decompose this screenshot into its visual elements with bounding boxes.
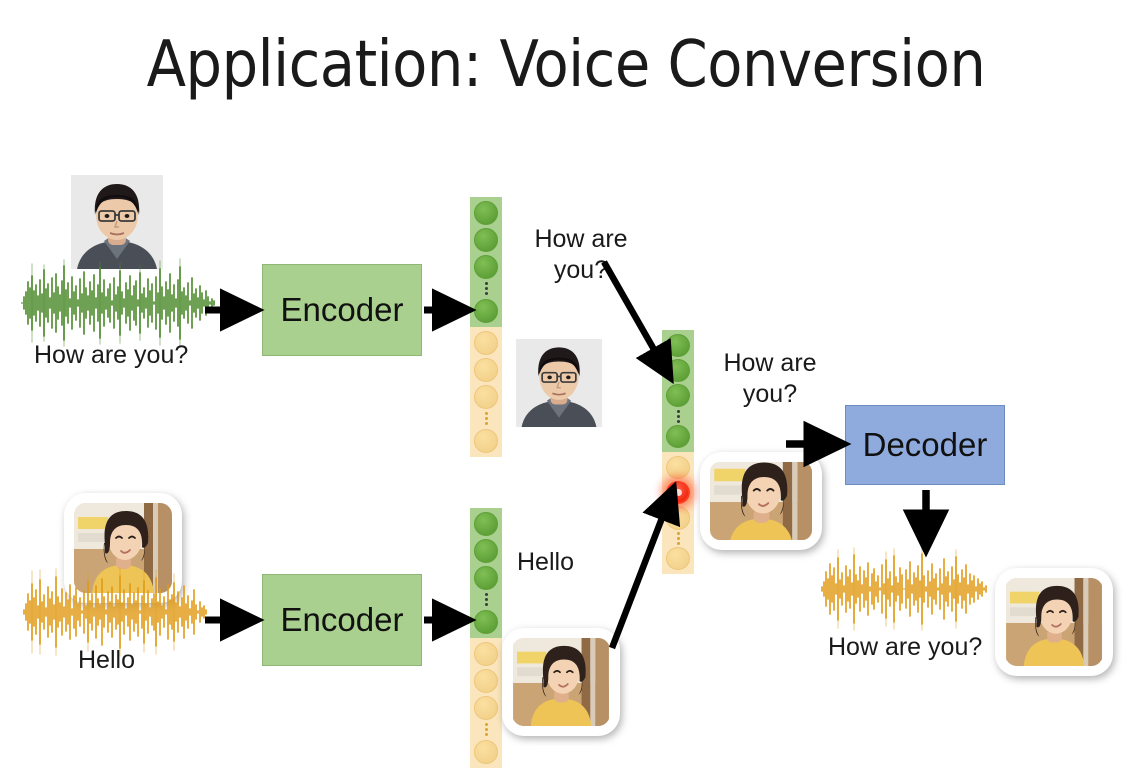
embedding-column-combined [662,330,694,574]
embedding-node [474,299,498,323]
orange-waveform-bottom [22,568,218,656]
embedding-node [474,385,498,409]
waveform-svg [20,258,220,348]
bottom-source-caption: Hello [78,645,135,676]
male-speaker-photo-embedding [508,332,610,434]
embedding-node [666,547,690,570]
embedding-node [666,384,690,407]
green-waveform-top [20,258,220,348]
embedding-node [474,642,498,666]
speaker-embedding-combined [662,452,694,574]
embedding-node [474,255,498,279]
output-caption: How are you? [828,632,982,663]
ellipsis-dots [677,531,680,546]
top-content-embedding-label: How are you? [506,224,656,285]
embedding-node [666,456,690,479]
embedding-node [474,740,498,764]
embedding-node [474,539,498,563]
decoder-label: Decoder [863,426,988,464]
speaker-embedding-top [470,327,502,457]
ellipsis-dots [677,408,680,423]
combined-content-embedding-label: How are you? [700,348,840,409]
embedding-node [474,566,498,590]
embedding-node [474,228,498,252]
ellipsis-dots [485,411,488,427]
embedding-node [666,506,690,529]
embedding-node [474,358,498,382]
embedding-node [474,331,498,355]
speaker-embedding-bottom [470,638,502,768]
female-speaker-photo-output [995,568,1113,676]
embedding-column-top [470,197,502,457]
embedding-node [474,669,498,693]
decoder-box[interactable]: Decoder [845,405,1005,485]
embedding-node [474,429,498,453]
embedding-node [474,201,498,225]
embedding-node [474,610,498,634]
encoder-top-box[interactable]: Encoder [262,264,422,356]
content-embedding-bottom [470,508,502,638]
embedding-node [474,512,498,536]
slide-canvas: Application: Voice Conversion [0,0,1132,783]
embedding-node [666,334,690,357]
page-title: Application: Voice Conversion [0,28,1132,102]
bottom-content-embedding-label: Hello [517,547,574,578]
encoder-bottom-box[interactable]: Encoder [262,574,422,666]
ellipsis-dots [485,722,488,738]
encoder-top-label: Encoder [281,291,404,329]
content-embedding-combined [662,330,694,452]
embedding-node [474,696,498,720]
ellipsis-dots [485,592,488,608]
orange-waveform-output [820,548,1000,630]
female-speaker-photo-combined [700,452,822,550]
top-source-caption: How are you? [34,340,188,371]
embedding-node-highlighted [666,481,690,504]
female-speaker-photo-embedding [502,628,620,736]
encoder-bottom-label: Encoder [281,601,404,639]
ellipsis-dots [485,281,488,297]
embedding-node [666,359,690,382]
embedding-column-bottom [470,508,502,768]
content-embedding-top [470,197,502,327]
embedding-node [666,425,690,448]
